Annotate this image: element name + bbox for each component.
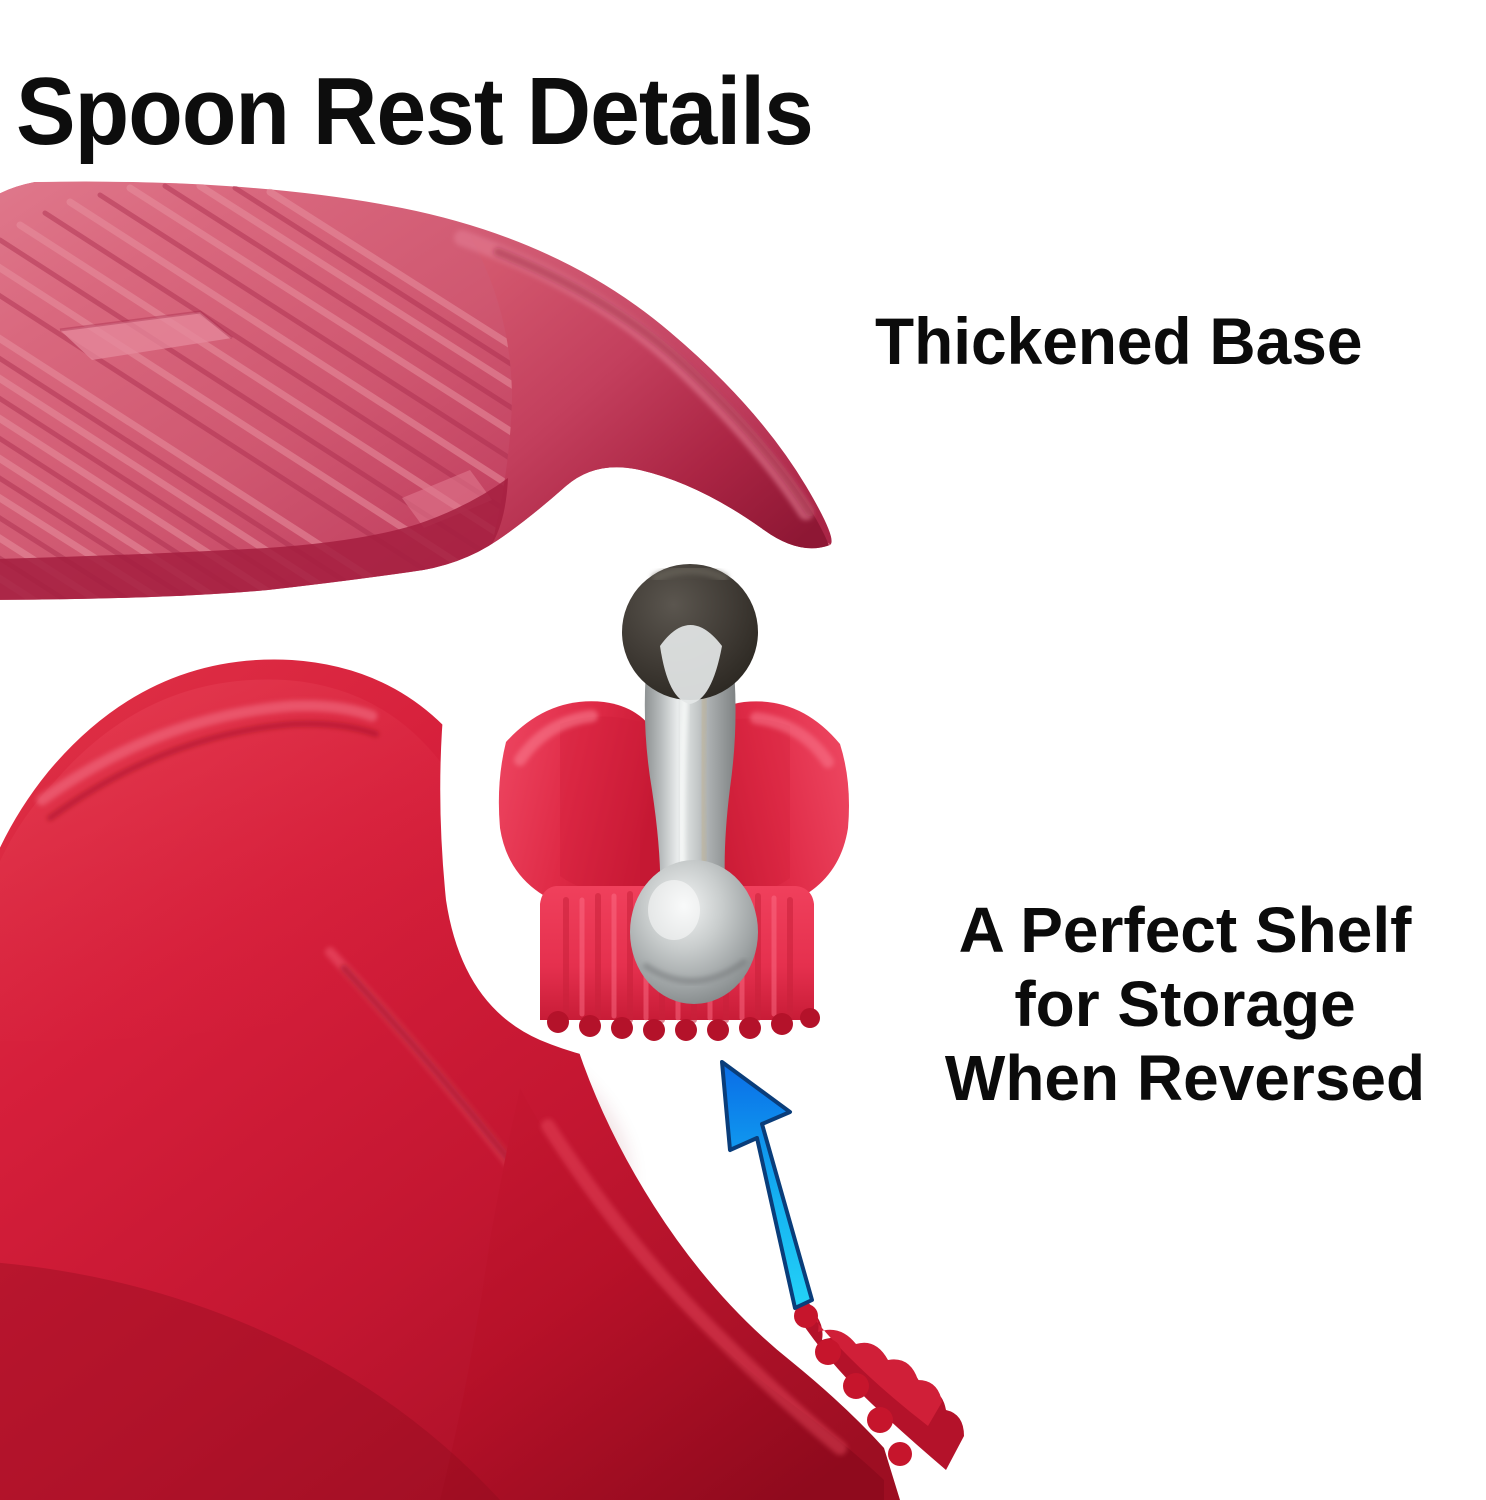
storage-arrow (722, 1062, 812, 1308)
callout-line-2: for Storage (886, 967, 1484, 1041)
callout-thickened-base: Thickened Base (875, 303, 1465, 380)
inset-reversed-shelf-photo (440, 546, 894, 1066)
callout-perfect-shelf: A Perfect Shelf for Storage When Reverse… (886, 893, 1484, 1116)
page-title: Spoon Rest Details (16, 58, 813, 166)
infographic-canvas: Spoon Rest Details Thickened Base A Perf… (0, 0, 1486, 1500)
callout-line-1: A Perfect Shelf (886, 893, 1484, 967)
callout-line-3: When Reversed (886, 1041, 1484, 1115)
product-illustration-layer (0, 0, 1486, 1500)
